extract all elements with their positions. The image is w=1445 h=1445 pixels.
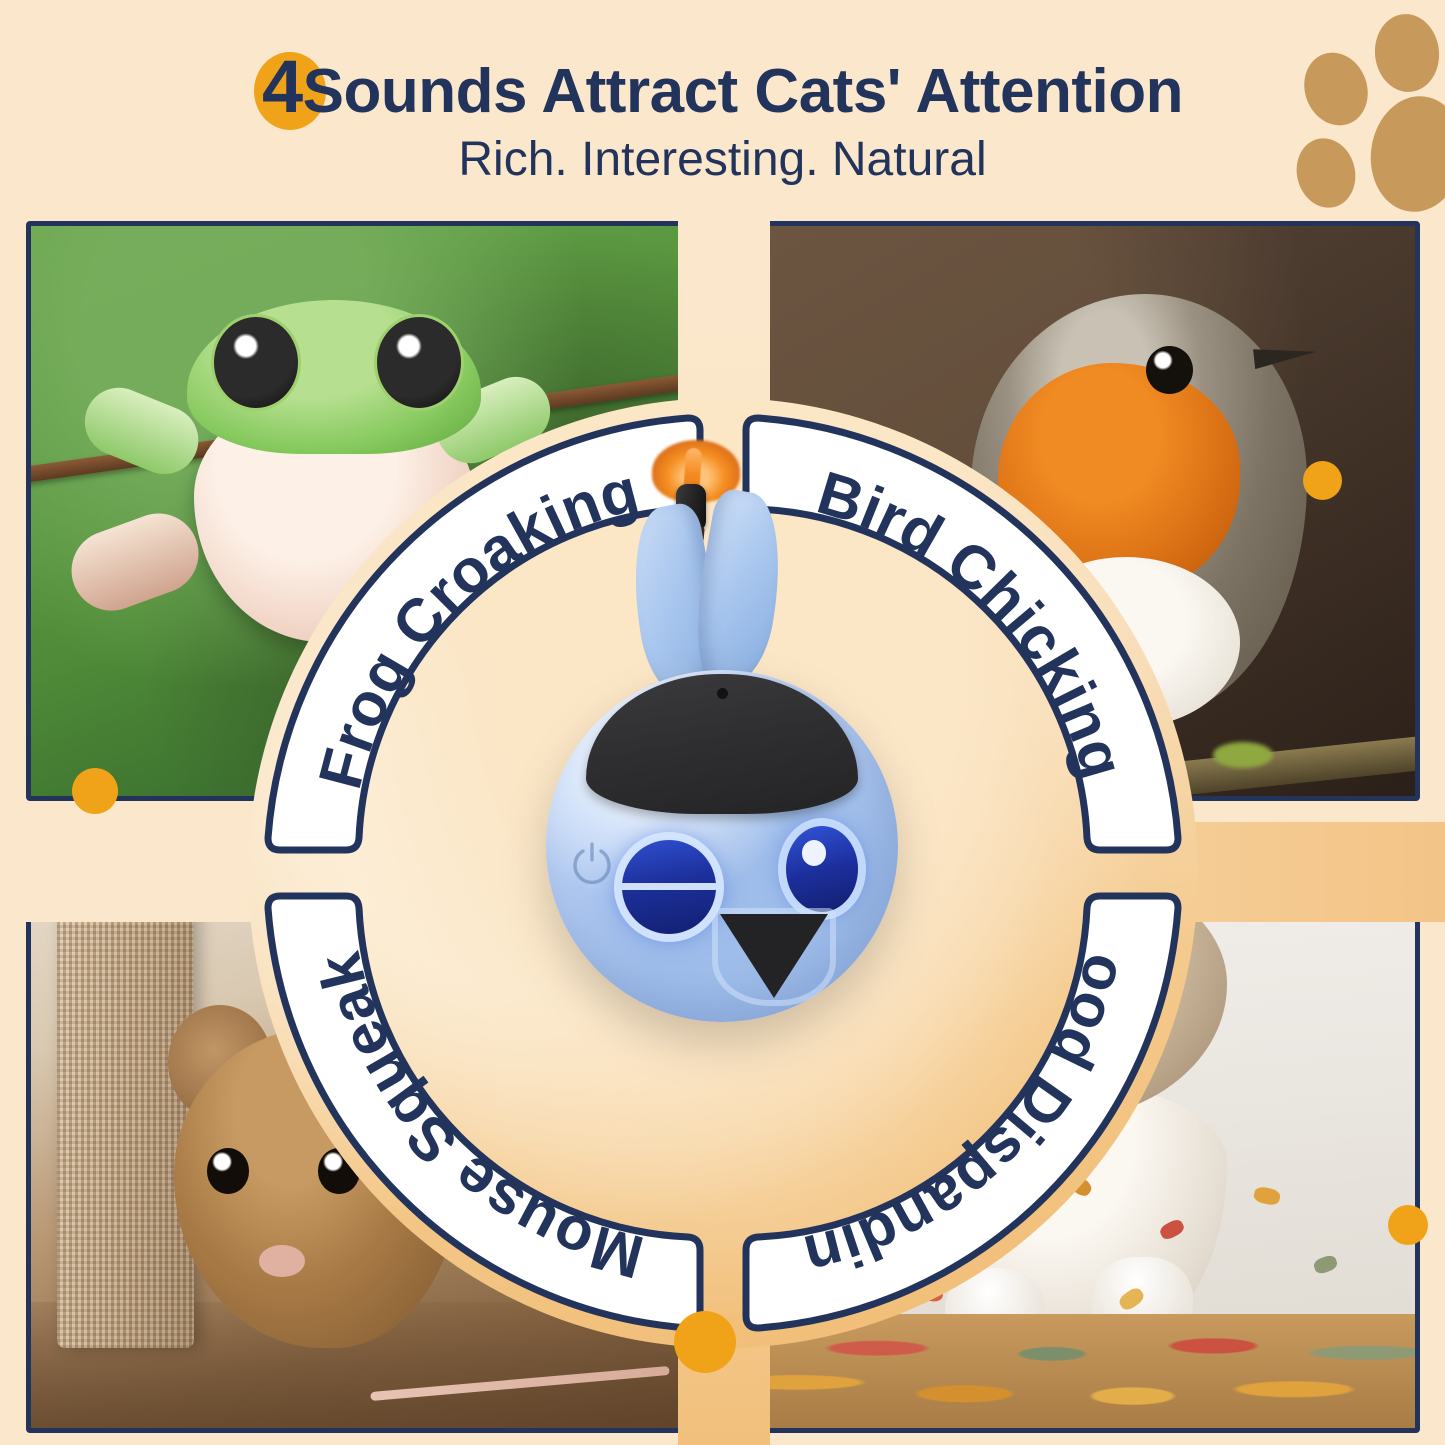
frog-leg: [60, 502, 210, 622]
sound-count: 4: [262, 45, 303, 128]
decor-dot: [674, 1311, 736, 1373]
decor-dot: [72, 768, 118, 814]
tail-fin-right: [684, 487, 795, 694]
title-text: Sounds Attract Cats' Attention: [303, 57, 1183, 126]
decor-dot: [1388, 1205, 1428, 1245]
power-icon[interactable]: [570, 840, 614, 890]
header: 4Sounds Attract Cats' Attention Rich. In…: [0, 0, 1445, 187]
scratching-post: [57, 852, 194, 1348]
moss: [1213, 742, 1273, 768]
frog-eye: [377, 317, 462, 408]
kibble: [1312, 1253, 1339, 1275]
decor-dot: [1303, 461, 1342, 500]
beak-icon: [720, 914, 828, 998]
robin-eye: [1146, 346, 1193, 394]
page-title: 4Sounds Attract Cats' Attention: [262, 48, 1183, 126]
mouse-eye: [207, 1148, 249, 1194]
frog-eye: [214, 317, 299, 408]
page-subtitle: Rich. Interesting. Natural: [0, 132, 1445, 187]
title-row: 4Sounds Attract Cats' Attention: [262, 0, 1183, 126]
eye-icon: [786, 826, 858, 912]
robin-beak: [1253, 343, 1317, 369]
kibble: [1252, 1186, 1281, 1207]
infographic-canvas: 4Sounds Attract Cats' Attention Rich. In…: [0, 0, 1445, 1445]
product-cat-toy: [534, 448, 912, 1068]
eye-icon: [622, 840, 716, 934]
